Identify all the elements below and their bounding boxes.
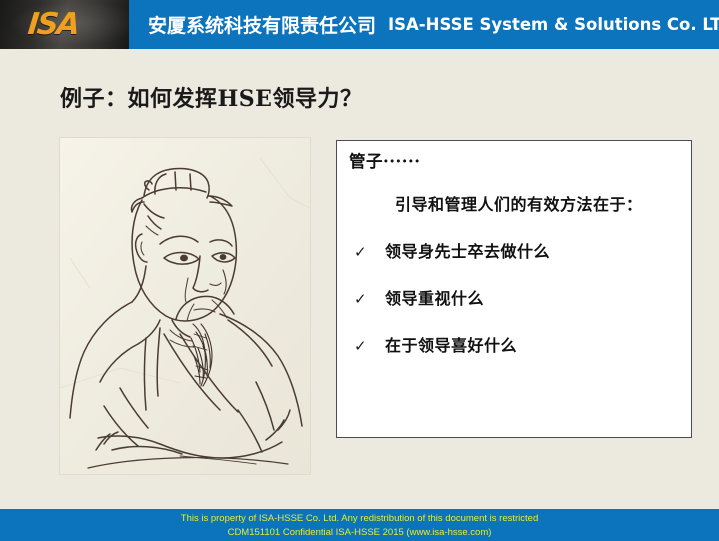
check-icon: ✓ <box>349 243 385 261</box>
company-name-english: ISA-HSSE System & Solutions Co. LTD <box>388 15 719 34</box>
list-item: ✓ 领导身先士卒去做什么 <box>349 238 681 262</box>
list-item-label: 领导重视什么 <box>385 285 484 309</box>
list-item: ✓ 在于领导喜好什么 <box>349 332 681 356</box>
slide-header: ISA 安厦系统科技有限责任公司 ISA-HSSE System & Solut… <box>0 0 719 49</box>
list-item-label: 在于领导喜好什么 <box>385 332 517 356</box>
quote-text-box: 管子······ 引导和管理人们的有效方法在于： ✓ 领导身先士卒去做什么 ✓ … <box>336 140 692 438</box>
list-item-label: 领导身先士卒去做什么 <box>385 238 550 262</box>
list-item: ✓ 领导重视什么 <box>349 285 681 309</box>
check-icon: ✓ <box>349 337 385 355</box>
page-title: 例子：如何发挥HSE领导力？ <box>60 81 362 113</box>
slide-footer: This is property of ISA-HSSE Co. Ltd. An… <box>0 509 719 541</box>
footer-confidential-line: CDM151101 Confidential ISA-HSSE 2015 (ww… <box>0 526 719 540</box>
quote-source-heading: 管子······ <box>349 152 681 172</box>
company-name-chinese: 安厦系统科技有限责任公司 <box>148 11 376 38</box>
isa-logo-icon: ISA <box>26 7 80 42</box>
quote-subheading: 引导和管理人们的有效方法在于： <box>395 191 681 215</box>
scholar-portrait-image <box>60 138 310 474</box>
header-title-band: 安厦系统科技有限责任公司 ISA-HSSE System & Solutions… <box>129 0 719 49</box>
check-icon: ✓ <box>349 290 385 308</box>
logo-panel: ISA <box>0 0 129 49</box>
footer-copyright-line: This is property of ISA-HSSE Co. Ltd. An… <box>0 512 719 526</box>
